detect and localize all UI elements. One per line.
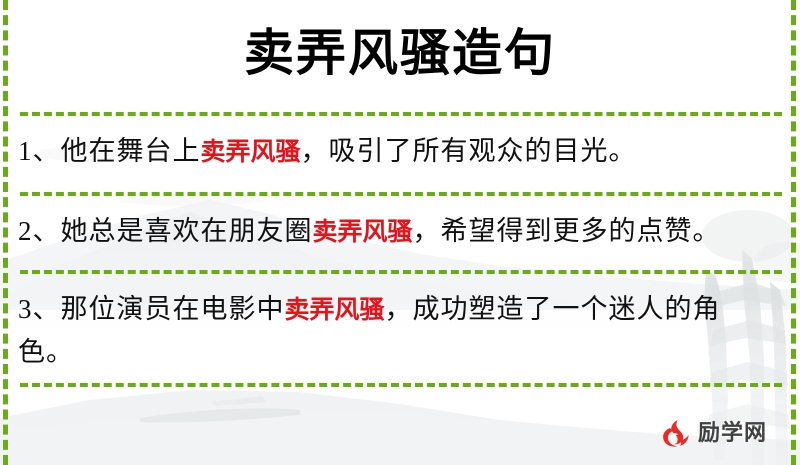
keyword-highlight: 卖弄风骚 (313, 217, 413, 246)
keyword-highlight: 卖弄风骚 (201, 137, 301, 166)
sentence-text-before: 那位演员在电影中 (61, 294, 285, 324)
sentence-index: 2、 (18, 216, 61, 246)
page-title: 卖弄风骚造句 (0, 18, 800, 88)
divider-after-sentence-2 (20, 270, 782, 274)
sentence-text-before: 她总是喜欢在朋友圈 (61, 216, 313, 246)
watermark-logo: 励学网 (660, 418, 767, 450)
watermark-label: 励学网 (698, 418, 767, 450)
sentence-text-before: 他在舞台上 (61, 136, 201, 166)
divider-after-sentence-1 (20, 192, 782, 196)
list-item: 3、那位演员在电影中卖弄风骚，成功塑造了一个迷人的角色。 (18, 288, 736, 373)
sentence-text-after: ，吸引了所有观众的目光。 (301, 136, 637, 166)
sentence-index: 3、 (18, 294, 61, 324)
divider-after-sentence-3 (20, 383, 782, 387)
list-item: 1、他在舞台上卖弄风骚，吸引了所有观众的目光。 (18, 130, 736, 173)
sentence-text-after: ，希望得到更多的点赞。 (413, 216, 721, 246)
list-item: 2、她总是喜欢在朋友圈卖弄风骚，希望得到更多的点赞。 (18, 210, 736, 253)
sentence-index: 1、 (18, 136, 61, 166)
divider-below-title (20, 112, 782, 116)
keyword-highlight: 卖弄风骚 (285, 295, 385, 324)
page-root: 卖弄风骚造句 1、他在舞台上卖弄风骚，吸引了所有观众的目光。 2、她总是喜欢在朋… (0, 0, 800, 465)
red-swirl-flame-icon (660, 418, 692, 450)
